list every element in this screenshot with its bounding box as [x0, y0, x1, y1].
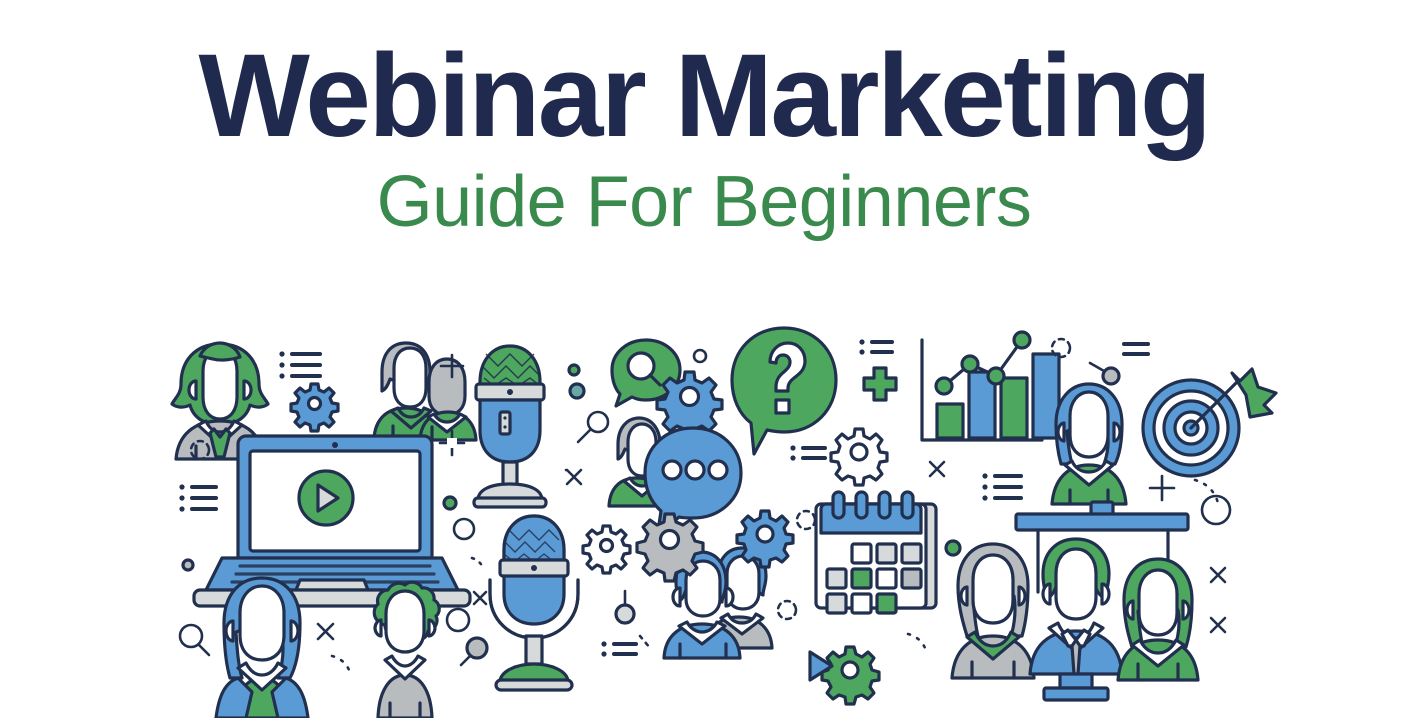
dotted-circle-icon-3 — [797, 511, 815, 529]
presenter-woman-green — [1118, 559, 1198, 680]
circle-icon-outline-2 — [447, 609, 469, 631]
dotted-arc-icon-1 — [472, 558, 484, 570]
page-title: Webinar Marketing — [0, 34, 1408, 159]
gear-icon-grey-medium — [637, 514, 703, 581]
calendar — [816, 492, 936, 613]
pin-icon-1 — [578, 412, 608, 442]
avatar-blue-green-woman — [1052, 384, 1126, 504]
dot-icon-green-3 — [946, 541, 960, 555]
presenter-woman-grey — [952, 544, 1034, 678]
gear-icon-navy-small — [583, 526, 630, 573]
dot-icon-outline-1 — [694, 350, 706, 362]
webinar-illustration: .ol { stroke:#22304f; stroke-width:3.2; … — [0, 318, 1408, 718]
condenser-microphone — [474, 346, 546, 507]
cross-icon-4 — [474, 592, 486, 604]
dash-icon-1 — [640, 636, 650, 648]
poster-canvas: Webinar Marketing Guide For Beginners .o… — [0, 0, 1408, 720]
target-with-arrow — [1143, 369, 1276, 476]
gear-icon-navy-right — [831, 429, 887, 485]
circle-icon-outline-1 — [454, 519, 474, 539]
list-icon-6 — [982, 473, 1023, 500]
illustration-svg: .ol { stroke:#22304f; stroke-width:3.2; … — [0, 318, 1408, 718]
pin-icon-3 — [616, 591, 634, 623]
list-icon-2 — [179, 484, 218, 511]
avatar-curly-green-woman — [374, 582, 439, 718]
page-subtitle: Guide For Beginners — [0, 163, 1408, 242]
magnifier-icon — [180, 625, 209, 655]
dotted-arc-icon-2 — [332, 656, 349, 670]
dot-icon-green-1 — [444, 497, 456, 509]
plus-icon-green — [864, 368, 896, 400]
presenter-man-green — [1030, 539, 1122, 700]
list-icon-5 — [859, 339, 894, 354]
avatar-blue-hair-woman — [216, 578, 308, 718]
dotted-arc-icon-4 — [1195, 480, 1219, 508]
list-icon-1 — [279, 351, 322, 378]
cross-icon-5 — [930, 462, 944, 476]
list-icon-4 — [790, 445, 827, 460]
list-icon-7 — [1122, 342, 1150, 356]
gear-icon-blue-small — [291, 384, 338, 431]
dot-icon-green-2 — [569, 365, 579, 375]
question-speech-bubble — [732, 328, 836, 454]
list-icon-3 — [601, 641, 638, 656]
plus-icon-2 — [1150, 476, 1174, 500]
dotted-arc-icon-3 — [908, 634, 925, 648]
dot-icon-grey-1 — [183, 560, 193, 570]
cross-icon-7 — [1211, 618, 1225, 632]
avatar-pair-green — [374, 343, 476, 440]
pin-icon-2 — [461, 638, 487, 665]
pin-icon-4 — [1090, 363, 1119, 384]
bar-chart-with-trendline — [922, 332, 1059, 440]
gear-icon-blue-mid — [737, 511, 793, 567]
heading-block: Webinar Marketing Guide For Beginners — [0, 34, 1408, 242]
dot-icon-teal-1 — [570, 384, 584, 398]
presentation-team — [952, 502, 1198, 700]
cross-icon-6 — [1211, 568, 1225, 582]
dotted-circle-icon-4 — [1052, 339, 1070, 357]
cross-icon-2 — [318, 624, 333, 639]
cross-icon-1 — [567, 470, 581, 484]
retro-microphone — [490, 516, 578, 690]
laptop-with-play-button — [194, 436, 470, 606]
play-button-icon[interactable] — [299, 471, 353, 525]
gear-icon-green-bottom — [822, 647, 879, 704]
dotted-circle-icon-2 — [778, 601, 796, 619]
